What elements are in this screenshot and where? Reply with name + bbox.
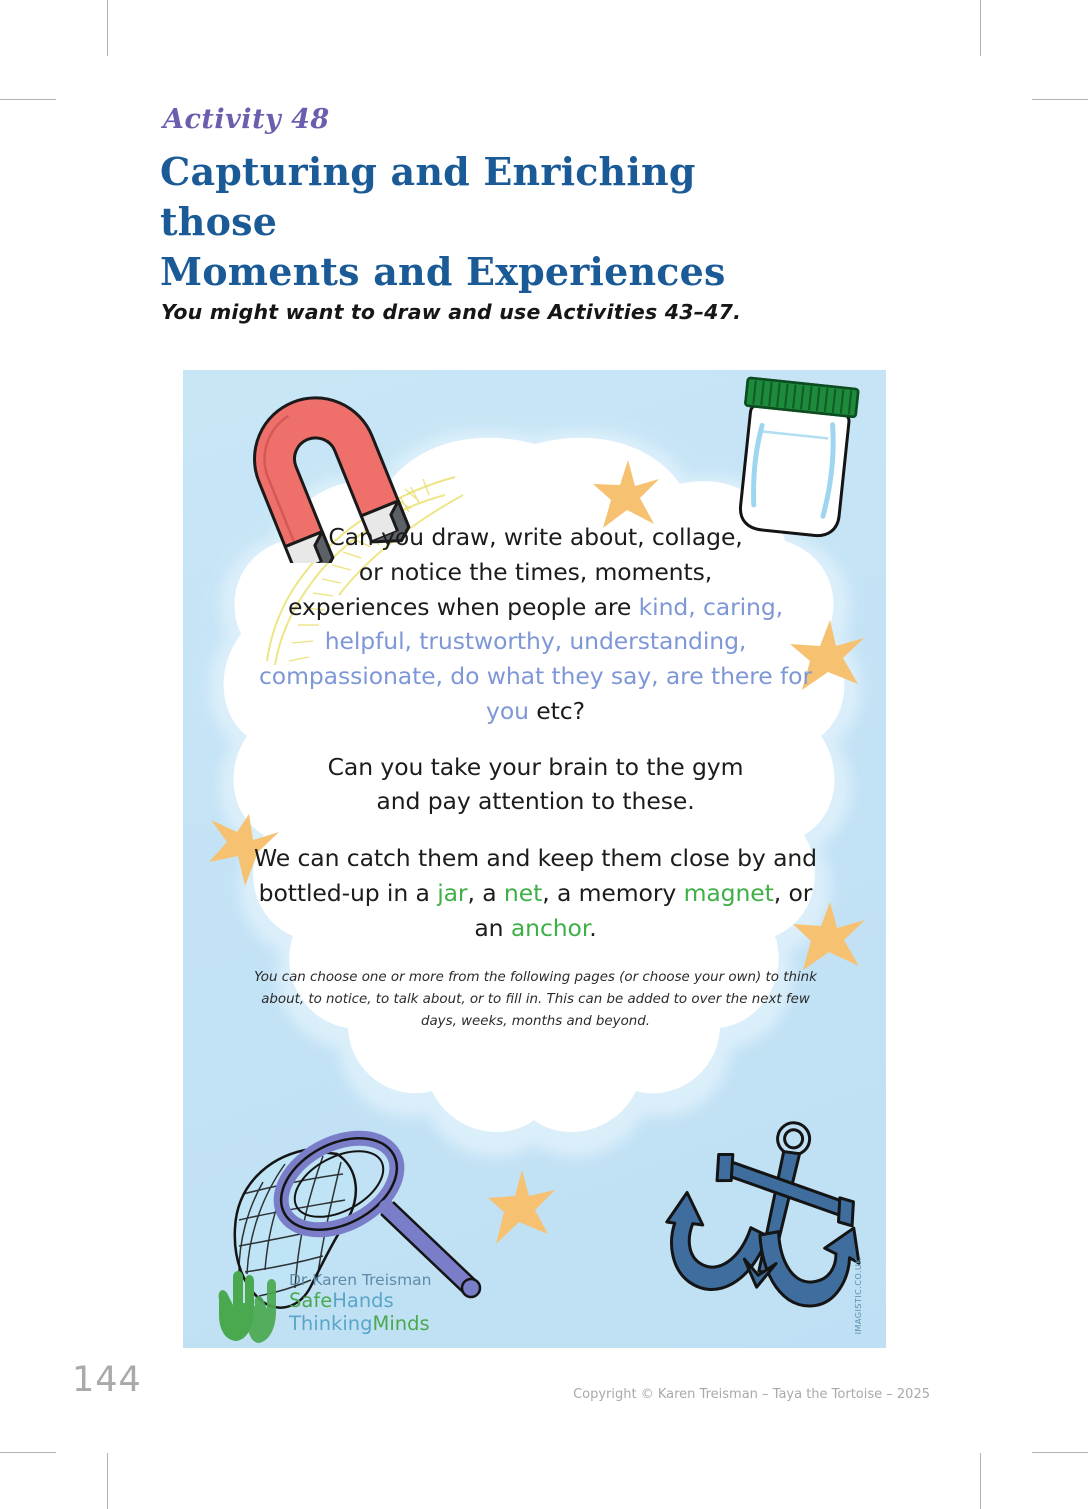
hands-icon: [211, 1265, 283, 1343]
crop-mark-top-right-h: [1032, 99, 1088, 100]
p3-word-net: net: [504, 879, 542, 907]
p3-seg2: , a: [468, 879, 504, 907]
safehands-logo: Dr Karen Treisman SafeHands ThinkingMind…: [211, 1265, 461, 1345]
p2-line1: Can you take your brain to the gym: [328, 753, 744, 781]
logo-line-2: SafeHands: [289, 1289, 432, 1312]
p1-seg2: or notice the times, moments,: [359, 558, 712, 586]
crop-mark-bottom-right-v: [980, 1453, 981, 1509]
paragraph-1: Can you draw, write about, collage, or n…: [243, 520, 828, 729]
logo-thinking: Thinking: [289, 1312, 373, 1335]
fineprint-note: You can choose one or more from the foll…: [243, 967, 828, 1032]
page-subtitle: You might want to draw and use Activitie…: [161, 300, 861, 324]
logo-minds: Minds: [373, 1312, 430, 1335]
p1-seg5: etc?: [529, 697, 585, 725]
activity-panel: Can you draw, write about, collage, or n…: [183, 370, 886, 1348]
crop-mark-bottom-right-h: [1032, 1452, 1088, 1453]
p3-seg5: .: [589, 914, 596, 942]
workbook-page: Activity 48 Capturing and Enriching thos…: [0, 0, 1088, 1509]
cloud-text-block: Can you draw, write about, collage, or n…: [243, 520, 828, 1055]
page-title-line-1: Capturing and Enriching those: [160, 147, 800, 247]
activity-label: Activity 48: [163, 104, 330, 135]
crop-mark-bottom-left-h: [0, 1452, 56, 1453]
logo-hands: Hands: [332, 1289, 394, 1312]
jar-illustration: [728, 375, 863, 540]
crop-mark-top-right-v: [980, 0, 981, 56]
page-title-line-2: Moments and Experiences: [160, 247, 800, 297]
logo-line-1: Dr Karen Treisman: [289, 1271, 432, 1289]
crop-mark-top-left-v: [107, 0, 108, 56]
crop-mark-bottom-left-v: [107, 1453, 108, 1509]
logo-safe: Safe: [289, 1289, 332, 1312]
p3-word-magnet: magnet: [684, 879, 774, 907]
logo-line-3: ThinkingMinds: [289, 1312, 432, 1335]
copyright-notice: Copyright © Karen Treisman – Taya the To…: [573, 1387, 930, 1402]
paragraph-2: Can you take your brain to the gym and p…: [243, 750, 828, 820]
p3-word-jar: jar: [437, 879, 467, 907]
crop-mark-top-left-h: [0, 99, 56, 100]
p3-seg3: , a memory: [542, 879, 683, 907]
paragraph-3: We can catch them and keep them close by…: [243, 841, 828, 945]
p3-word-anchor: anchor: [511, 914, 589, 942]
page-title: Capturing and Enriching those Moments an…: [160, 147, 800, 297]
p1-seg3: experiences when people are: [288, 593, 639, 621]
p1-seg1: Can you draw, write about, collage,: [328, 523, 742, 551]
logo-text: Dr Karen Treisman SafeHands ThinkingMind…: [289, 1271, 432, 1335]
page-number: 144: [72, 1360, 142, 1400]
imagistic-credit: IMAGISTIC.CO.UK: [853, 1258, 863, 1334]
p2-line2: and pay attention to these.: [376, 787, 694, 815]
anchor-illustration: [653, 1115, 868, 1340]
